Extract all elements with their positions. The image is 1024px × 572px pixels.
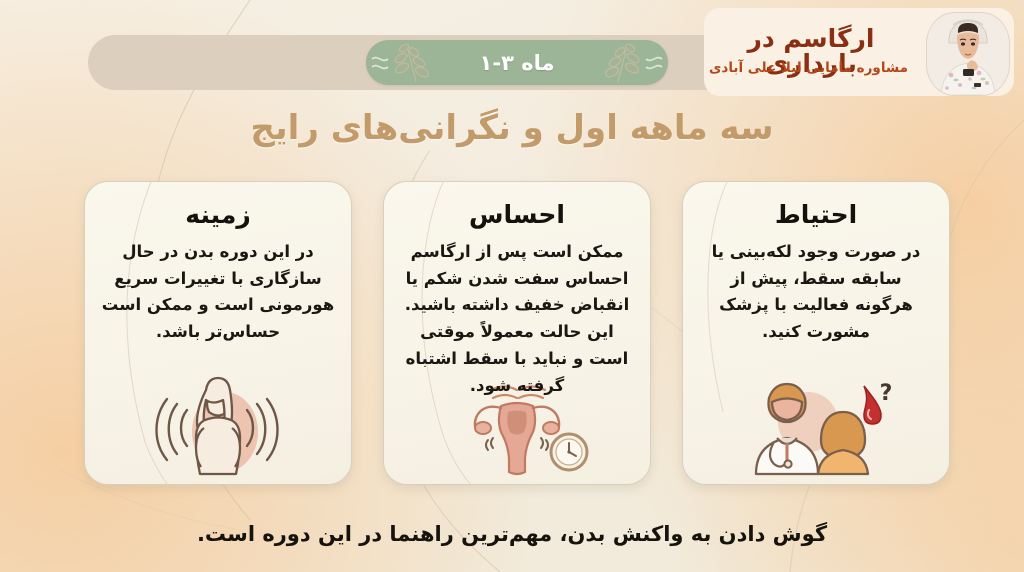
card-title: زمینه (185, 202, 250, 227)
card-body: در این دوره بدن در حال سازگاری با تغییرا… (85, 239, 351, 346)
card-zamineh: زمینه در این دوره بدن در حال سازگاری با … (84, 181, 352, 485)
footer-note: گوش دادن به واکنش بدن، مهم‌ترین راهنما د… (0, 522, 1024, 546)
card-body: ممکن است پس از ارگاسم احساس سفت شدن شکم … (384, 239, 650, 399)
card-ehtiat: احتیاط در صورت وجود لکه‌بینی یا سابقه سق… (682, 181, 950, 485)
leaf-sprig-icon-right (596, 40, 666, 85)
month-range-label: ماه ۳-۱ (480, 51, 555, 75)
leaf-sprig-icon-left (368, 40, 438, 85)
card-illustration (85, 374, 351, 478)
card-title: احساس (469, 202, 565, 227)
cards-row: زمینه در این دوره بدن در حال سازگاری با … (84, 181, 950, 483)
avatar (926, 12, 1010, 96)
slide-canvas: ماه ۳-۱ ارگاسم در بارداری مشاوره مامایی … (0, 0, 1024, 572)
card-title: احتیاط (775, 202, 857, 227)
card-body: در صورت وجود لکه‌بینی یا سابقه سقط، پیش … (683, 239, 949, 346)
month-range-pill: ماه ۳-۱ (366, 40, 668, 85)
woman-sensation-icon (143, 376, 293, 476)
midwife-portrait-icon (927, 13, 1009, 95)
card-ehsas: احساس ممکن است پس از ارگاسم احساس سفت شد… (383, 181, 651, 485)
svg-text:?: ? (880, 381, 893, 406)
card-illustration: ? (683, 374, 949, 478)
page-title: سه ماهه اول و نگرانی‌های رایج (0, 108, 1024, 148)
doctor-patient-blooddrop-icon: ? (736, 376, 896, 476)
brand-subtitle: مشاوره مامایی لیلا علی آبادی (701, 62, 916, 76)
